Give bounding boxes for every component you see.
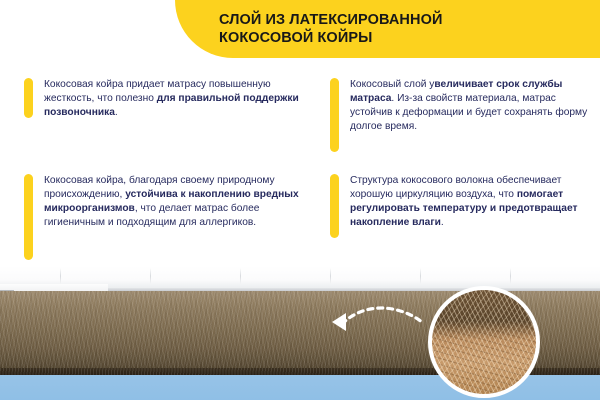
fact-tail-0: . <box>115 107 118 118</box>
facts-grid: Кокосовая койра придает матрасу повышенн… <box>0 72 600 268</box>
fact-text-durability: Кокосовый слой увеличивает срок службы м… <box>350 78 592 152</box>
fact-block-hygiene: Кокосовая койра, благодаря своему природ… <box>24 174 309 260</box>
zoom-pointer-arrow-icon <box>330 300 430 340</box>
fact-text-hygiene: Кокосовая койра, благодаря своему природ… <box>44 174 309 260</box>
accent-bar-icon <box>24 78 33 118</box>
page-title: СЛОЙ ИЗ ЛАТЕКСИРОВАННОЙ КОКОСОВОЙ КОЙРЫ <box>219 11 442 48</box>
accent-bar-icon <box>330 78 339 152</box>
fact-block-durability: Кокосовый слой увеличивает срок службы м… <box>330 78 592 152</box>
coir-fiber-closeup-inset <box>428 286 540 398</box>
fact-tail-3: . <box>441 217 444 228</box>
fact-text-stiffness: Кокосовая койра придает матрасу повышенн… <box>44 78 309 120</box>
accent-bar-icon <box>24 174 33 260</box>
fact-lead-1: Кокосовый слой у <box>350 79 434 90</box>
accent-bar-icon <box>330 174 339 238</box>
fact-block-ventilation: Структура кокосового волокна обеспечивае… <box>330 174 592 238</box>
title-banner: СЛОЙ ИЗ ЛАТЕКСИРОВАННОЙ КОКОСОВОЙ КОЙРЫ <box>175 0 600 58</box>
fact-block-stiffness: Кокосовая койра придает матрасу повышенн… <box>24 78 309 120</box>
fact-text-ventilation: Структура кокосового волокна обеспечивае… <box>350 174 592 238</box>
